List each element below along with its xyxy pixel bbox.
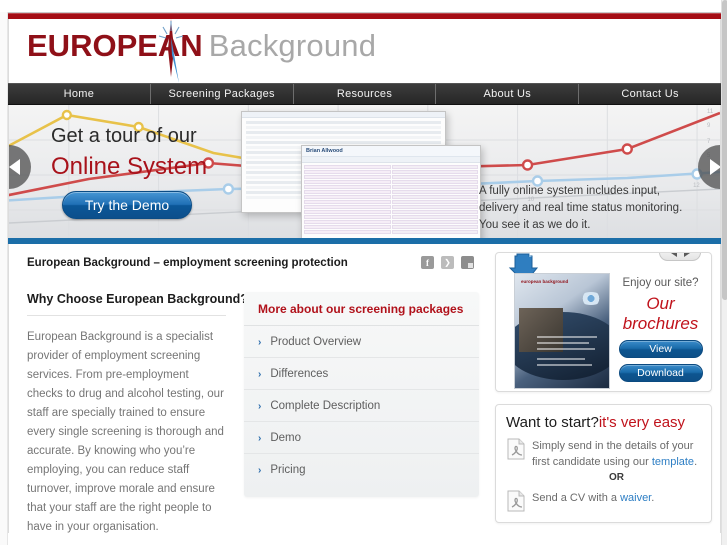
want-to-start-tagline: it's very easy xyxy=(599,414,685,431)
nav-item-screening-packages[interactable]: Screening Packages xyxy=(151,84,294,104)
pdf-file-icon xyxy=(506,438,526,460)
want-to-start-heading: Want to start?it's very easy xyxy=(506,414,701,431)
logo-primary-text: EUROPEAN xyxy=(27,28,203,63)
chevron-right-icon xyxy=(710,159,721,175)
main-content: European Background – employment screeni… xyxy=(8,244,721,533)
brochure-cover-image[interactable]: european background xyxy=(514,273,610,389)
start-step-waiver: Send a CV with a waiver. xyxy=(506,490,701,512)
start-step-template: Simply send in the details of your first… xyxy=(506,438,701,470)
or-separator-label: OR xyxy=(532,472,701,483)
hero-slider: 910 1112 11975 Brian Allwood xyxy=(8,105,721,238)
page-left-edge xyxy=(0,12,8,545)
why-choose-paragraph-1: European Background is a specialist prov… xyxy=(27,328,226,537)
template-instruction: Simply send in the details of your first… xyxy=(532,438,701,470)
svg-text:9: 9 xyxy=(707,123,711,129)
pdf-file-icon xyxy=(506,490,526,512)
waiver-text-before: Send a CV with a xyxy=(532,492,620,504)
scrollbar-thumb[interactable] xyxy=(722,0,727,300)
packages-heading: More about our screening packages xyxy=(244,302,479,326)
logo-secondary-text: Background xyxy=(209,28,376,63)
package-label: Differences xyxy=(270,368,328,380)
hero-headline: Get a tour of our xyxy=(51,125,197,148)
nav-item-resources[interactable]: Resources xyxy=(294,84,437,104)
facebook-icon[interactable]: f xyxy=(421,256,434,269)
package-link-demo[interactable]: › Demo xyxy=(244,422,479,454)
packages-panel: More about our screening packages › Prod… xyxy=(244,292,479,497)
share-icon[interactable] xyxy=(461,256,474,269)
view-brochure-button[interactable]: View xyxy=(619,340,703,358)
template-link[interactable]: template xyxy=(652,456,694,468)
hero-subheadline: Online System xyxy=(51,153,207,181)
brochure-body: european background Enjoy our site? xyxy=(504,261,703,389)
brochure-text-block: Enjoy our site? Our brochures View Downl… xyxy=(610,273,703,389)
content-left-column: European Background – employment screeni… xyxy=(9,244,489,533)
enjoy-prompt: Enjoy our site? xyxy=(618,277,703,289)
hero-description: A fully online system includes input, de… xyxy=(479,183,694,234)
want-to-start-question: Want to start? xyxy=(506,414,599,431)
browser-page: EUROPEANBackground Home Screening Packag… xyxy=(0,0,727,545)
package-label: Product Overview xyxy=(270,336,361,348)
waiver-instruction: Send a CV with a waiver. xyxy=(532,490,654,506)
package-label: Demo xyxy=(270,432,301,444)
top-accent-bar xyxy=(8,12,721,19)
svg-text:11: 11 xyxy=(707,109,714,115)
template-text-after: . xyxy=(694,456,697,468)
brochure-carousel-nav[interactable] xyxy=(659,252,701,261)
chevron-right-icon: › xyxy=(258,337,261,348)
chevron-right-icon: › xyxy=(258,401,261,412)
twitter-icon[interactable]: ❯ xyxy=(441,256,454,269)
chevron-left-icon xyxy=(9,159,20,175)
arrow-left-icon[interactable] xyxy=(671,252,677,257)
try-demo-button[interactable]: Try the Demo xyxy=(62,191,192,219)
package-link-complete-description[interactable]: › Complete Description xyxy=(244,390,479,422)
package-link-product-overview[interactable]: › Product Overview xyxy=(244,326,479,358)
chevron-right-icon: › xyxy=(258,369,261,380)
main-navigation: Home Screening Packages Resources About … xyxy=(8,83,721,105)
package-label: Pricing xyxy=(270,464,305,476)
site-header: EUROPEANBackground xyxy=(8,19,721,83)
content-columns: Why Choose European Background? European… xyxy=(9,292,489,545)
page-scrollbar[interactable] xyxy=(721,0,727,545)
brochure-cover-logo: european background xyxy=(521,279,568,284)
site-logo[interactable]: EUROPEANBackground xyxy=(27,28,376,64)
our-brochures-line2: brochures xyxy=(623,314,699,333)
nav-item-contact-us[interactable]: Contact Us xyxy=(579,84,721,104)
package-label: Complete Description xyxy=(270,400,380,412)
sidebar: european background Enjoy our site? xyxy=(489,244,720,533)
nav-item-about-us[interactable]: About Us xyxy=(436,84,579,104)
download-brochure-button[interactable]: Download xyxy=(619,364,703,382)
packages-column: More about our screening packages › Prod… xyxy=(244,292,489,545)
nav-item-home[interactable]: Home xyxy=(8,84,151,104)
photo-graphic xyxy=(519,308,563,352)
want-to-start-widget: Want to start?it's very easy Simply send… xyxy=(495,404,712,523)
top-spacer xyxy=(0,0,727,12)
our-brochures-title: Our brochures xyxy=(618,294,703,334)
our-brochures-line1: Our xyxy=(646,294,674,313)
app-screenshot-applicant-detail: Brian Allwood xyxy=(301,145,481,238)
why-choose-column: Why Choose European Background? European… xyxy=(9,292,244,545)
waiver-text-after: . xyxy=(651,492,654,504)
eye-graphic xyxy=(579,292,603,305)
waiver-link[interactable]: waiver xyxy=(620,492,651,504)
package-link-pricing[interactable]: › Pricing xyxy=(244,454,479,485)
svg-text:12: 12 xyxy=(693,183,700,189)
brochures-widget: european background Enjoy our site? xyxy=(495,252,712,392)
chevron-right-icon: › xyxy=(258,433,261,444)
why-choose-heading: Why Choose European Background? xyxy=(27,292,226,316)
chevron-right-icon: › xyxy=(258,465,261,476)
package-link-differences[interactable]: › Differences xyxy=(244,358,479,390)
page-title: European Background – employment screeni… xyxy=(27,257,348,269)
social-share-group: f ❯ xyxy=(421,256,474,269)
arrow-right-icon[interactable] xyxy=(684,252,690,257)
